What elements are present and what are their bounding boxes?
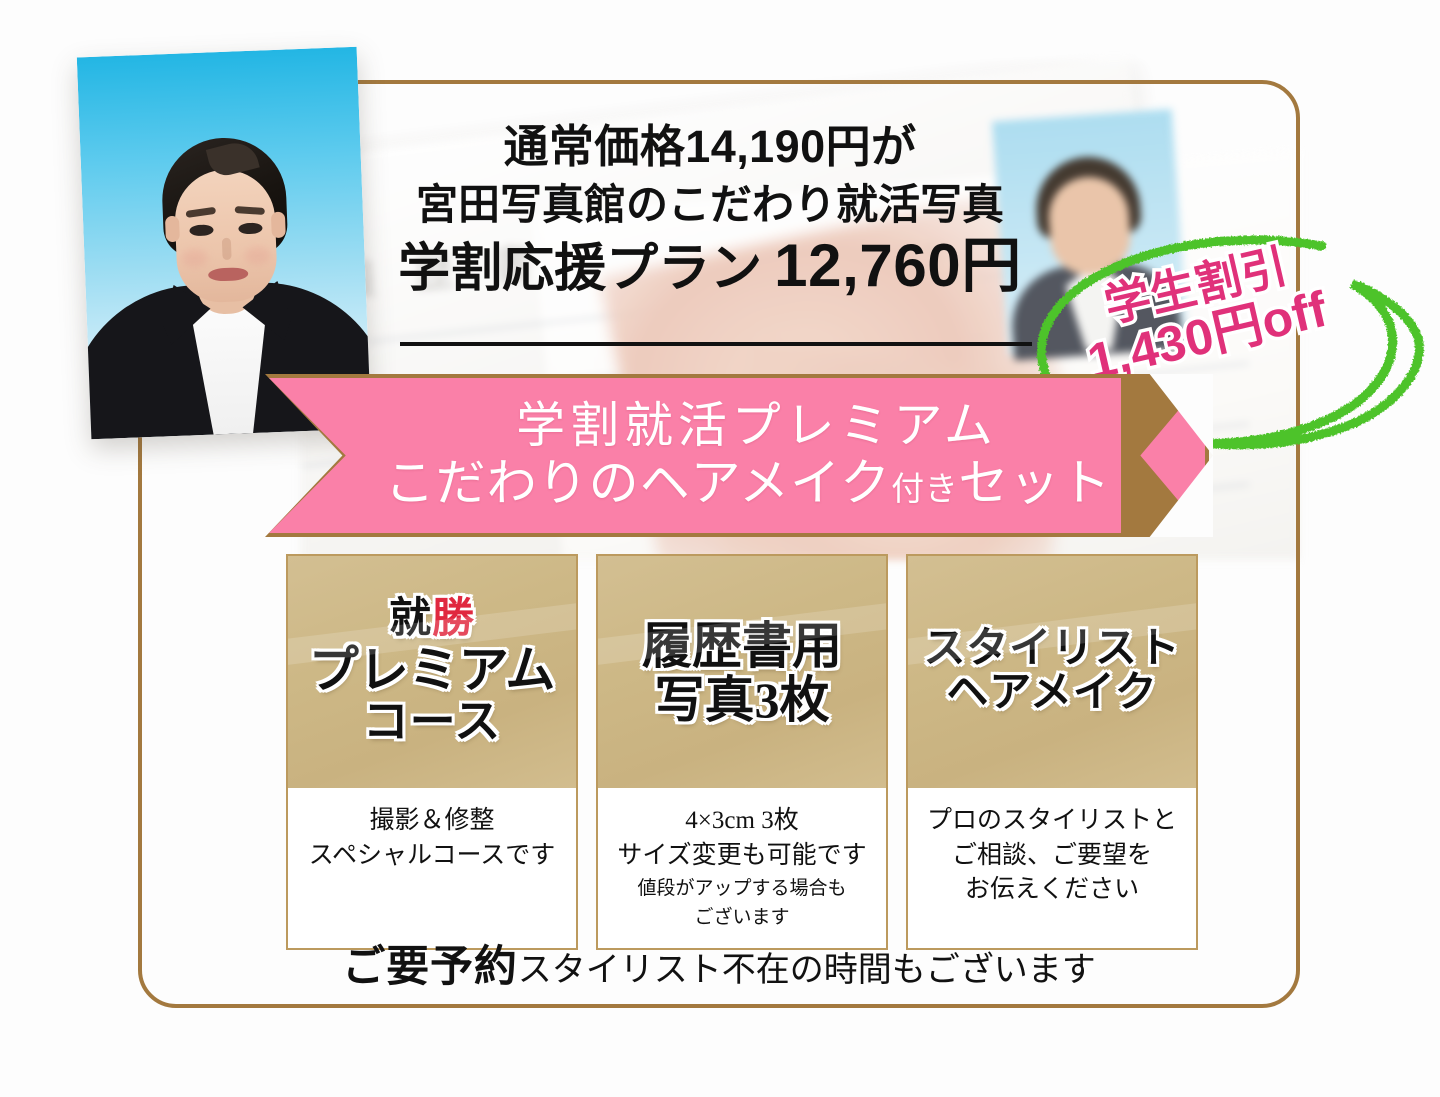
- portrait-nose: [222, 238, 232, 260]
- card2-caption-1: 4×3cm 3枚: [608, 804, 876, 839]
- ribbon-line-2-small: 付き: [891, 472, 958, 508]
- plan-price-row: 学割応援プラン 12,760円: [370, 232, 1050, 300]
- card1-title-line-3: コース: [363, 698, 501, 746]
- card3-caption-1: プロのスタイリストと: [918, 804, 1186, 839]
- portrait-ear-left: [165, 216, 180, 243]
- plan-label: 学割応援プラン: [398, 240, 762, 299]
- ribbon-text-block: 学割就活プレミアム こだわりのヘアメイク 付き セット: [268, 377, 1206, 534]
- card3-caption-2: ご相談、ご要望を: [918, 839, 1186, 874]
- reservation-note-text: スタイリスト不在の時間もございます: [518, 942, 1096, 991]
- card-caption-area: プロのスタイリストと ご相談、ご要望を お伝えください: [908, 788, 1196, 926]
- card2-title-line-2: 写真3枚: [655, 674, 830, 726]
- poster-canvas: 履 歴 書 現在 shashinkan studio: [0, 0, 1440, 1097]
- regular-price-text: 通常価格14,190円が: [370, 120, 1050, 173]
- portrait-face: [173, 168, 278, 304]
- card-title-area: 履歴書用 写真3枚: [598, 556, 886, 788]
- reservation-required-label: ご要予約: [342, 932, 517, 994]
- card2-note-2: ございます: [608, 906, 876, 931]
- ribbon-line-2: こだわりのヘアメイク 付き セット: [363, 456, 1112, 511]
- portrait-ear-right: [271, 212, 286, 239]
- card-title-area: スタイリスト ヘアメイク: [908, 556, 1196, 788]
- card-caption-area: 4×3cm 3枚 サイズ変更も可能です 値段がアップする場合も ございます: [598, 788, 886, 948]
- reservation-note: ご要予約 スタイリスト不在の時間もございます: [138, 932, 1300, 994]
- feature-card-premium-course: 就勝 プレミアム コース 撮影＆修整 スペシャルコースです: [286, 554, 578, 950]
- card-title-area: 就勝 プレミアム コース: [288, 556, 576, 788]
- plan-price-underline: [400, 342, 1032, 346]
- feature-cards: 就勝 プレミアム コース 撮影＆修整 スペシャルコースです 履歴書用 写真3枚 …: [286, 554, 1199, 950]
- card3-caption-3: お伝えください: [918, 873, 1186, 908]
- feature-card-resume-photos: 履歴書用 写真3枚 4×3cm 3枚 サイズ変更も可能です 値段がアップする場合…: [596, 554, 888, 950]
- plan-price: 12,760円: [774, 232, 1022, 300]
- ribbon-line-1: 学割就活プレミアム: [476, 400, 998, 452]
- studio-tagline-text: 宮田写真館のこだわり就活写真: [370, 179, 1050, 230]
- card1-caption-2: スペシャルコースです: [298, 839, 566, 874]
- ribbon-line-2-part-b: セット: [958, 456, 1111, 511]
- ribbon-line-2-part-a: こだわりのヘアメイク: [385, 456, 892, 511]
- card3-title-line-2: ヘアメイク: [946, 672, 1157, 716]
- headline-block: 通常価格14,190円が 宮田写真館のこだわり就活写真 学割応援プラン 12,7…: [370, 120, 1050, 301]
- card-caption-area: 撮影＆修整 スペシャルコースです: [288, 788, 576, 891]
- card2-caption-2: サイズ変更も可能です: [608, 839, 876, 874]
- feature-card-stylist-hairmake: スタイリスト ヘアメイク プロのスタイリストと ご相談、ご要望を お伝えください: [906, 554, 1198, 950]
- card1-caption-1: 撮影＆修整: [298, 804, 566, 839]
- card2-note-1: 値段がアップする場合も: [608, 877, 876, 902]
